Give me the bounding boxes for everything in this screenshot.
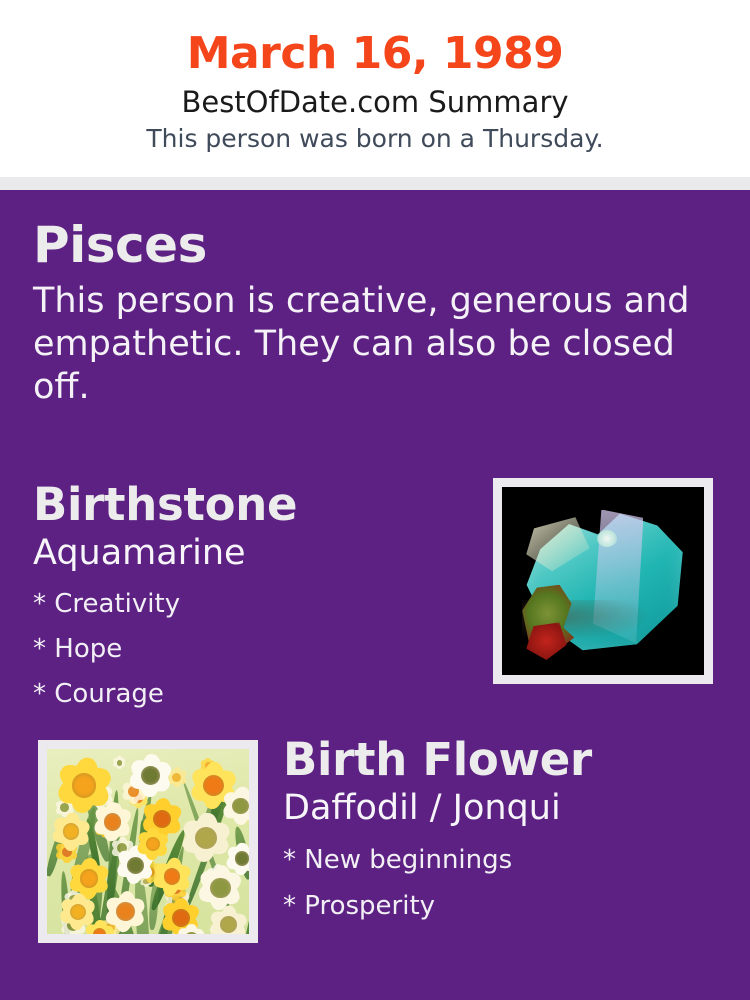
weekday-line: This person was born on a Thursday. bbox=[0, 120, 750, 155]
aquamarine-crystal-icon bbox=[502, 487, 704, 675]
list-item: * Prosperity bbox=[283, 883, 733, 929]
birth-flower-trait-list: * New beginnings * Prosperity bbox=[283, 829, 733, 929]
birth-flower-section: Birth Flower Daffodil / Jonqui * New beg… bbox=[283, 733, 733, 929]
site-name-label: BestOfDate.com Summary bbox=[0, 80, 750, 120]
zodiac-section: Pisces This person is creative, generous… bbox=[33, 216, 719, 409]
birth-flower-photo bbox=[47, 749, 249, 934]
list-item: * Hope bbox=[33, 627, 473, 672]
list-item: * Courage bbox=[33, 672, 473, 717]
birthstone-name: Aquamarine bbox=[33, 531, 473, 574]
birthstone-trait-list: * Creativity * Hope * Courage bbox=[33, 574, 473, 717]
list-item: * New beginnings bbox=[283, 837, 733, 883]
birth-flower-name: Daffodil / Jonqui bbox=[283, 786, 733, 829]
page-title-date: March 16, 1989 bbox=[0, 0, 750, 80]
birthstone-heading: Birthstone bbox=[33, 478, 473, 531]
birth-flower-photo-frame bbox=[38, 740, 258, 943]
zodiac-sign-name: Pisces bbox=[33, 216, 719, 274]
summary-header: March 16, 1989 BestOfDate.com Summary Th… bbox=[0, 0, 750, 177]
list-item: * Creativity bbox=[33, 582, 473, 627]
birthstone-section: Birthstone Aquamarine * Creativity * Hop… bbox=[33, 478, 473, 717]
zodiac-description: This person is creative, generous and em… bbox=[33, 274, 698, 409]
birthstone-photo bbox=[502, 487, 704, 675]
daffodil-field-icon bbox=[47, 749, 249, 934]
header-divider bbox=[0, 177, 750, 190]
birthstone-photo-frame bbox=[493, 478, 713, 684]
birth-flower-heading: Birth Flower bbox=[283, 733, 733, 786]
